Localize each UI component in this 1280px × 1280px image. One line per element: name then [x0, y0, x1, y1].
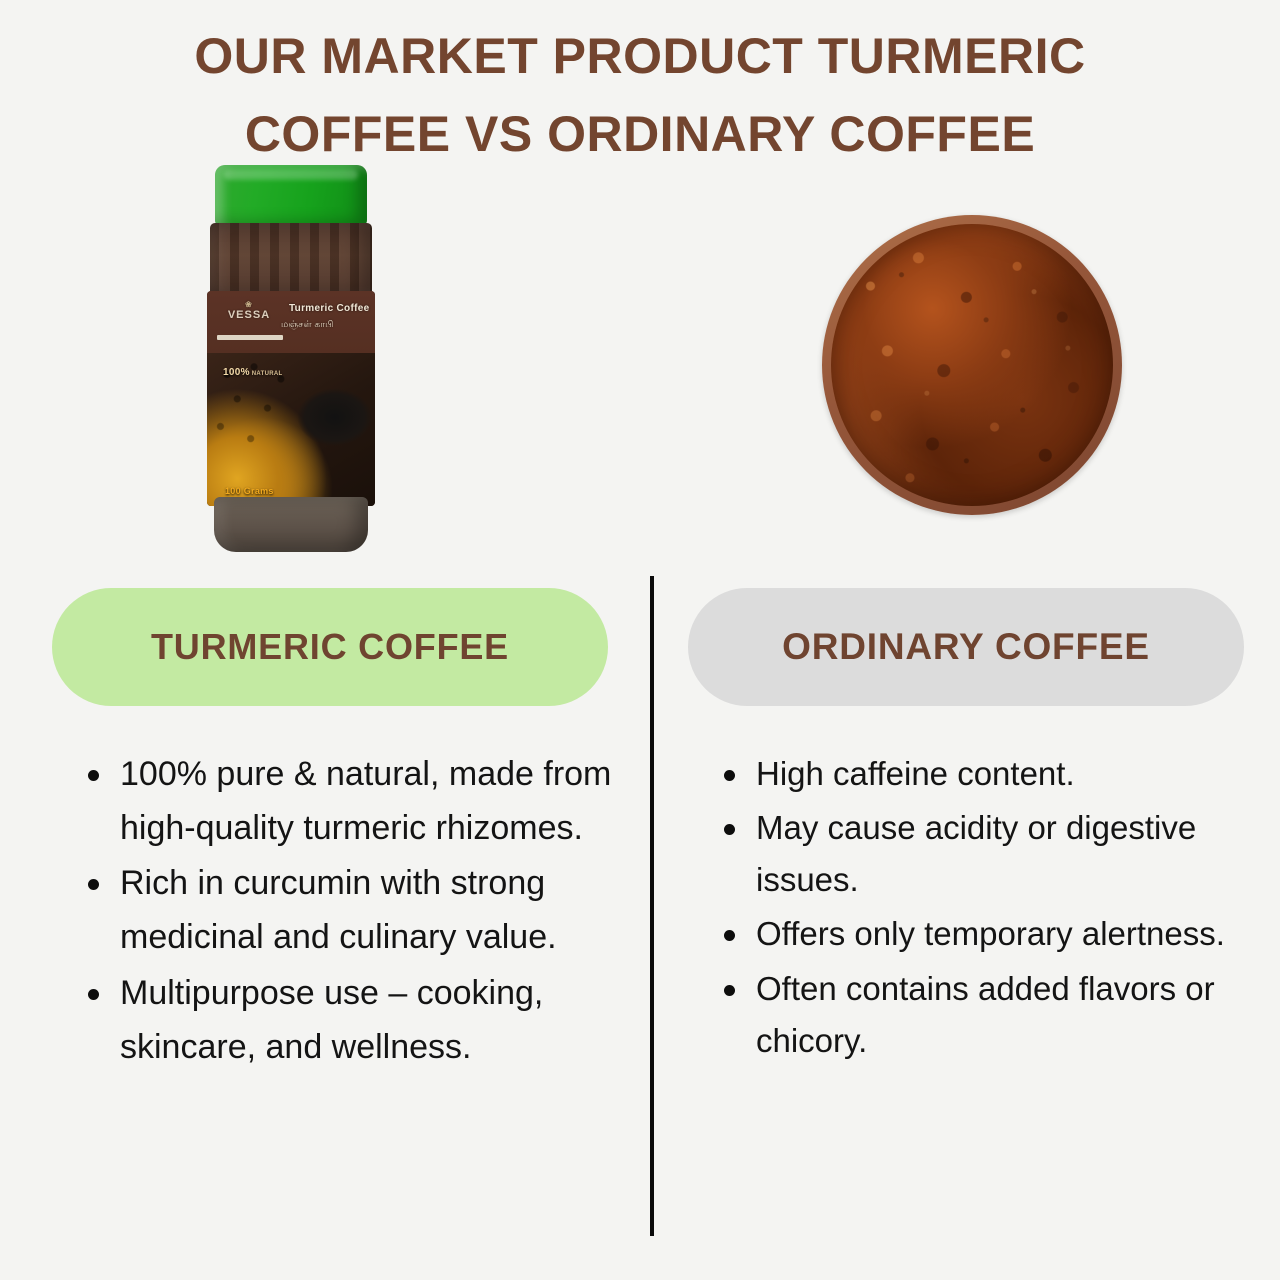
ordinary-coffee-column: ORDINARY COFFEE High caffeine content. M…	[688, 588, 1258, 1069]
jar-cap	[215, 165, 367, 227]
ordinary-coffee-bowl-image	[822, 215, 1122, 515]
list-item: Rich in curcumin with strong medicinal a…	[70, 857, 630, 964]
ordinary-coffee-drawbacks-list: High caffeine content. May cause acidity…	[706, 748, 1276, 1067]
turmeric-coffee-jar-image: ❀ VESSA Turmeric Coffee மஞ்சள் காபி 100%…	[207, 165, 375, 560]
coffee-powder	[831, 224, 1113, 506]
brand-underline	[217, 335, 283, 340]
list-item: May cause acidity or digestive issues.	[706, 802, 1276, 906]
brand-logo: ❀ VESSA	[220, 301, 278, 321]
list-item: 100% pure & natural, made from high-qual…	[70, 748, 630, 855]
jar-label-header: ❀ VESSA Turmeric Coffee மஞ்சள் காபி	[207, 291, 375, 353]
ordinary-coffee-heading: ORDINARY COFFEE	[688, 588, 1244, 706]
vertical-divider	[650, 576, 654, 1236]
turmeric-coffee-heading: TURMERIC COFFEE	[52, 588, 608, 706]
list-item: Multipurpose use – cooking, skincare, an…	[70, 967, 630, 1074]
purity-badge-sub: NATURAL	[252, 371, 283, 377]
purity-badge: 100%NATURAL	[223, 367, 282, 378]
net-weight-text: 100 Grams	[225, 486, 274, 496]
jar-granules-window	[210, 223, 372, 295]
bowl-rim	[822, 215, 1122, 515]
brand-name: VESSA	[228, 309, 270, 321]
page-title: OUR MARKET PRODUCT TURMERIC COFFEE VS OR…	[0, 18, 1280, 173]
jar-product-name: Turmeric Coffee	[289, 303, 370, 314]
jar-product-name-local: மஞ்சள் காபி	[281, 319, 372, 331]
turmeric-coffee-benefits-list: 100% pure & natural, made from high-qual…	[70, 748, 630, 1074]
page-title-line-1: OUR MARKET PRODUCT TURMERIC	[0, 18, 1280, 96]
leaf-icon: ❀	[220, 301, 278, 309]
list-item: Offers only temporary alertness.	[706, 908, 1276, 960]
turmeric-coffee-column: TURMERIC COFFEE 100% pure & natural, mad…	[52, 588, 622, 1076]
jar-label-photo: 100%NATURAL 100 Grams	[207, 353, 375, 506]
list-item: Often contains added flavors or chicory.	[706, 963, 1276, 1067]
hero-image-row: ❀ VESSA Turmeric Coffee மஞ்சள் காபி 100%…	[0, 155, 1280, 575]
jar-label: ❀ VESSA Turmeric Coffee மஞ்சள் காபி 100%…	[207, 291, 375, 506]
purity-badge-value: 100%	[223, 367, 250, 378]
jar-base	[214, 497, 368, 552]
list-item: High caffeine content.	[706, 748, 1276, 800]
